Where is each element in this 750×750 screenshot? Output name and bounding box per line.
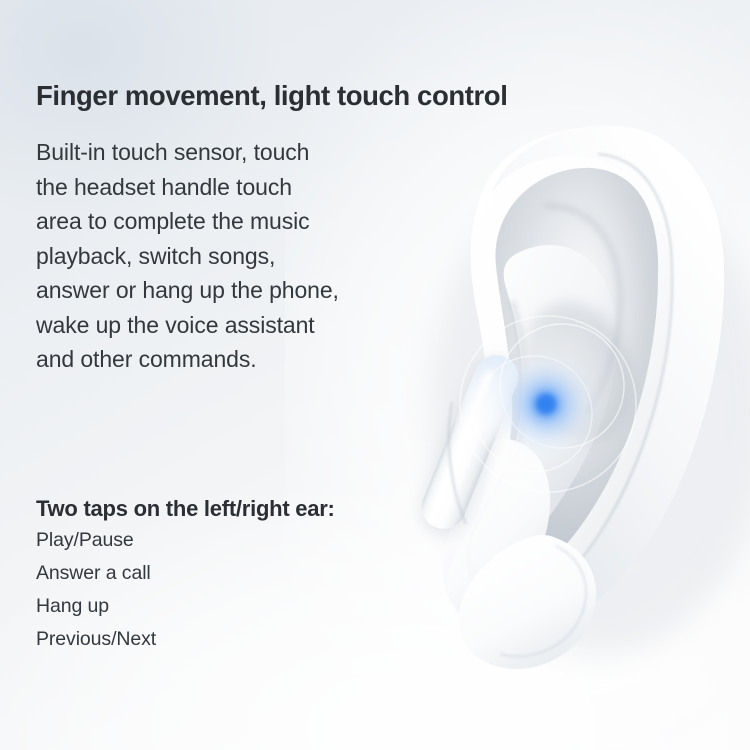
description-line: Built-in touch sensor, touch <box>36 135 436 170</box>
product-feature-poster: Finger movement, light touch control Bui… <box>0 0 750 750</box>
gesture-subheading: Two taps on the left/right ear: <box>36 496 456 522</box>
list-item: Answer a call <box>36 557 396 590</box>
list-item: Previous/Next <box>36 623 396 656</box>
description-line: the headset handle touch <box>36 170 436 205</box>
description-line: answer or hang up the phone, <box>36 273 436 308</box>
gesture-action-list: Play/Pause Answer a call Hang up Previou… <box>36 524 396 656</box>
list-item: Play/Pause <box>36 524 396 557</box>
description-line: playback, switch songs, <box>36 239 436 274</box>
list-item: Hang up <box>36 590 396 623</box>
page-title: Finger movement, light touch control <box>36 80 636 112</box>
text-content: Finger movement, light touch control Bui… <box>0 0 750 750</box>
description-line: area to complete the music <box>36 204 436 239</box>
description-line: wake up the voice assistant <box>36 308 436 343</box>
feature-description: Built-in touch sensor, touch the headset… <box>36 135 436 377</box>
description-line: and other commands. <box>36 342 436 377</box>
